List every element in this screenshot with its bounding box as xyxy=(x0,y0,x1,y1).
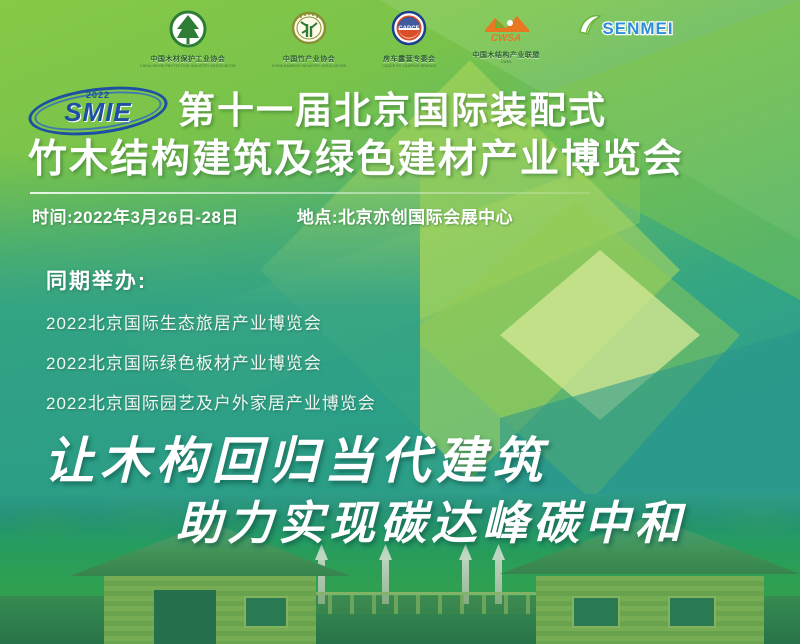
logo-label-cn: 中国木材保护工业协会 xyxy=(150,54,225,64)
smie-logo-text: SMIE xyxy=(28,99,168,125)
event-meta: 时间:2022年3月26日-28日 地点:北京亦创国际会展中心 xyxy=(32,203,513,228)
event-venue: 地点:北京亦创国际会展中心 xyxy=(297,203,513,228)
logo-senmei[interactable]: SENMEI SENMEI xyxy=(576,10,680,68)
headline-block: 2022 SMIE 第十一届北京国际装配式 竹木结构建筑及绿色建材产业博览会 xyxy=(28,88,780,183)
house-roof-icon: CWSA xyxy=(479,10,533,49)
slogan-line2: 助力实现碳达峰碳中和 xyxy=(176,487,686,553)
logo-label-en: CADCE RV CAMPING BRANCH xyxy=(382,64,436,68)
concurrent-events-block: 同期举办: 2022北京国际生态旅居产业博览会 2022北京国际绿色板材产业博览… xyxy=(46,265,376,429)
association-logo-strip: 中国木材保护工业协会 CHINA WOOD PROTECTION INDUSTR… xyxy=(0,6,800,72)
concurrent-event-item: 2022北京国际生态旅居产业博览会 xyxy=(46,309,376,334)
tree-shield-icon xyxy=(168,10,208,53)
concurrent-events-title: 同期举办: xyxy=(46,265,376,295)
svg-text:SENMEI: SENMEI xyxy=(602,19,673,38)
page-title-line1: 第十一届北京国际装配式 xyxy=(178,92,607,131)
concurrent-event-item: 2022北京国际园艺及户外家居产业博览会 xyxy=(46,389,376,414)
bamboo-oval-icon xyxy=(289,10,329,53)
slogan-line1: 让木构回归当代建筑 xyxy=(44,421,548,493)
leaf-wordmark-icon: SENMEI xyxy=(576,10,680,47)
event-date: 时间:2022年3月26日-28日 xyxy=(32,203,239,228)
smie-logo[interactable]: 2022 SMIE xyxy=(28,88,168,134)
logo-china-wood-protection-industry-association[interactable]: 中国木材保护工业协会 CHINA WOOD PROTECTION INDUSTR… xyxy=(140,10,236,68)
logo-label-cn: 中国竹产业协会 xyxy=(283,54,336,64)
logo-label-cn: 中国木结构产业联盟 xyxy=(472,50,540,60)
exhibition-poster: 中国木材保护工业协会 CHINA WOOD PROTECTION INDUSTR… xyxy=(0,0,800,644)
page-title-line2: 竹木结构建筑及绿色建材产业博览会 xyxy=(28,138,780,183)
logo-label-cn: 房车露营专委会 xyxy=(383,54,436,64)
logo-cadce-rv-camping-committee[interactable]: CADCE 房车露营专委会 CADCE RV CAMPING BRANCH xyxy=(382,10,436,68)
logo-cwsa-china-wood-structure-industry-alliance[interactable]: CWSA 中国木结构产业联盟 CWSA xyxy=(472,10,540,68)
logo-label-en: CHINA WOOD PROTECTION INDUSTRY ASSOCIATI… xyxy=(140,64,236,68)
svg-text:CADCE: CADCE xyxy=(399,26,420,32)
logo-china-bamboo-industry-association[interactable]: 中国竹产业协会 CHINA BAMBOO INDUSTRY ASSOCIATIO… xyxy=(272,10,347,68)
divider xyxy=(30,192,590,194)
logo-label-en: CHINA BAMBOO INDUSTRY ASSOCIATION xyxy=(272,64,347,68)
svg-text:CWSA: CWSA xyxy=(491,33,522,44)
cadce-badge-icon: CADCE xyxy=(389,10,429,53)
logo-label-en: CWSA xyxy=(501,60,512,64)
concurrent-event-item: 2022北京国际绿色板材产业博览会 xyxy=(46,349,376,374)
